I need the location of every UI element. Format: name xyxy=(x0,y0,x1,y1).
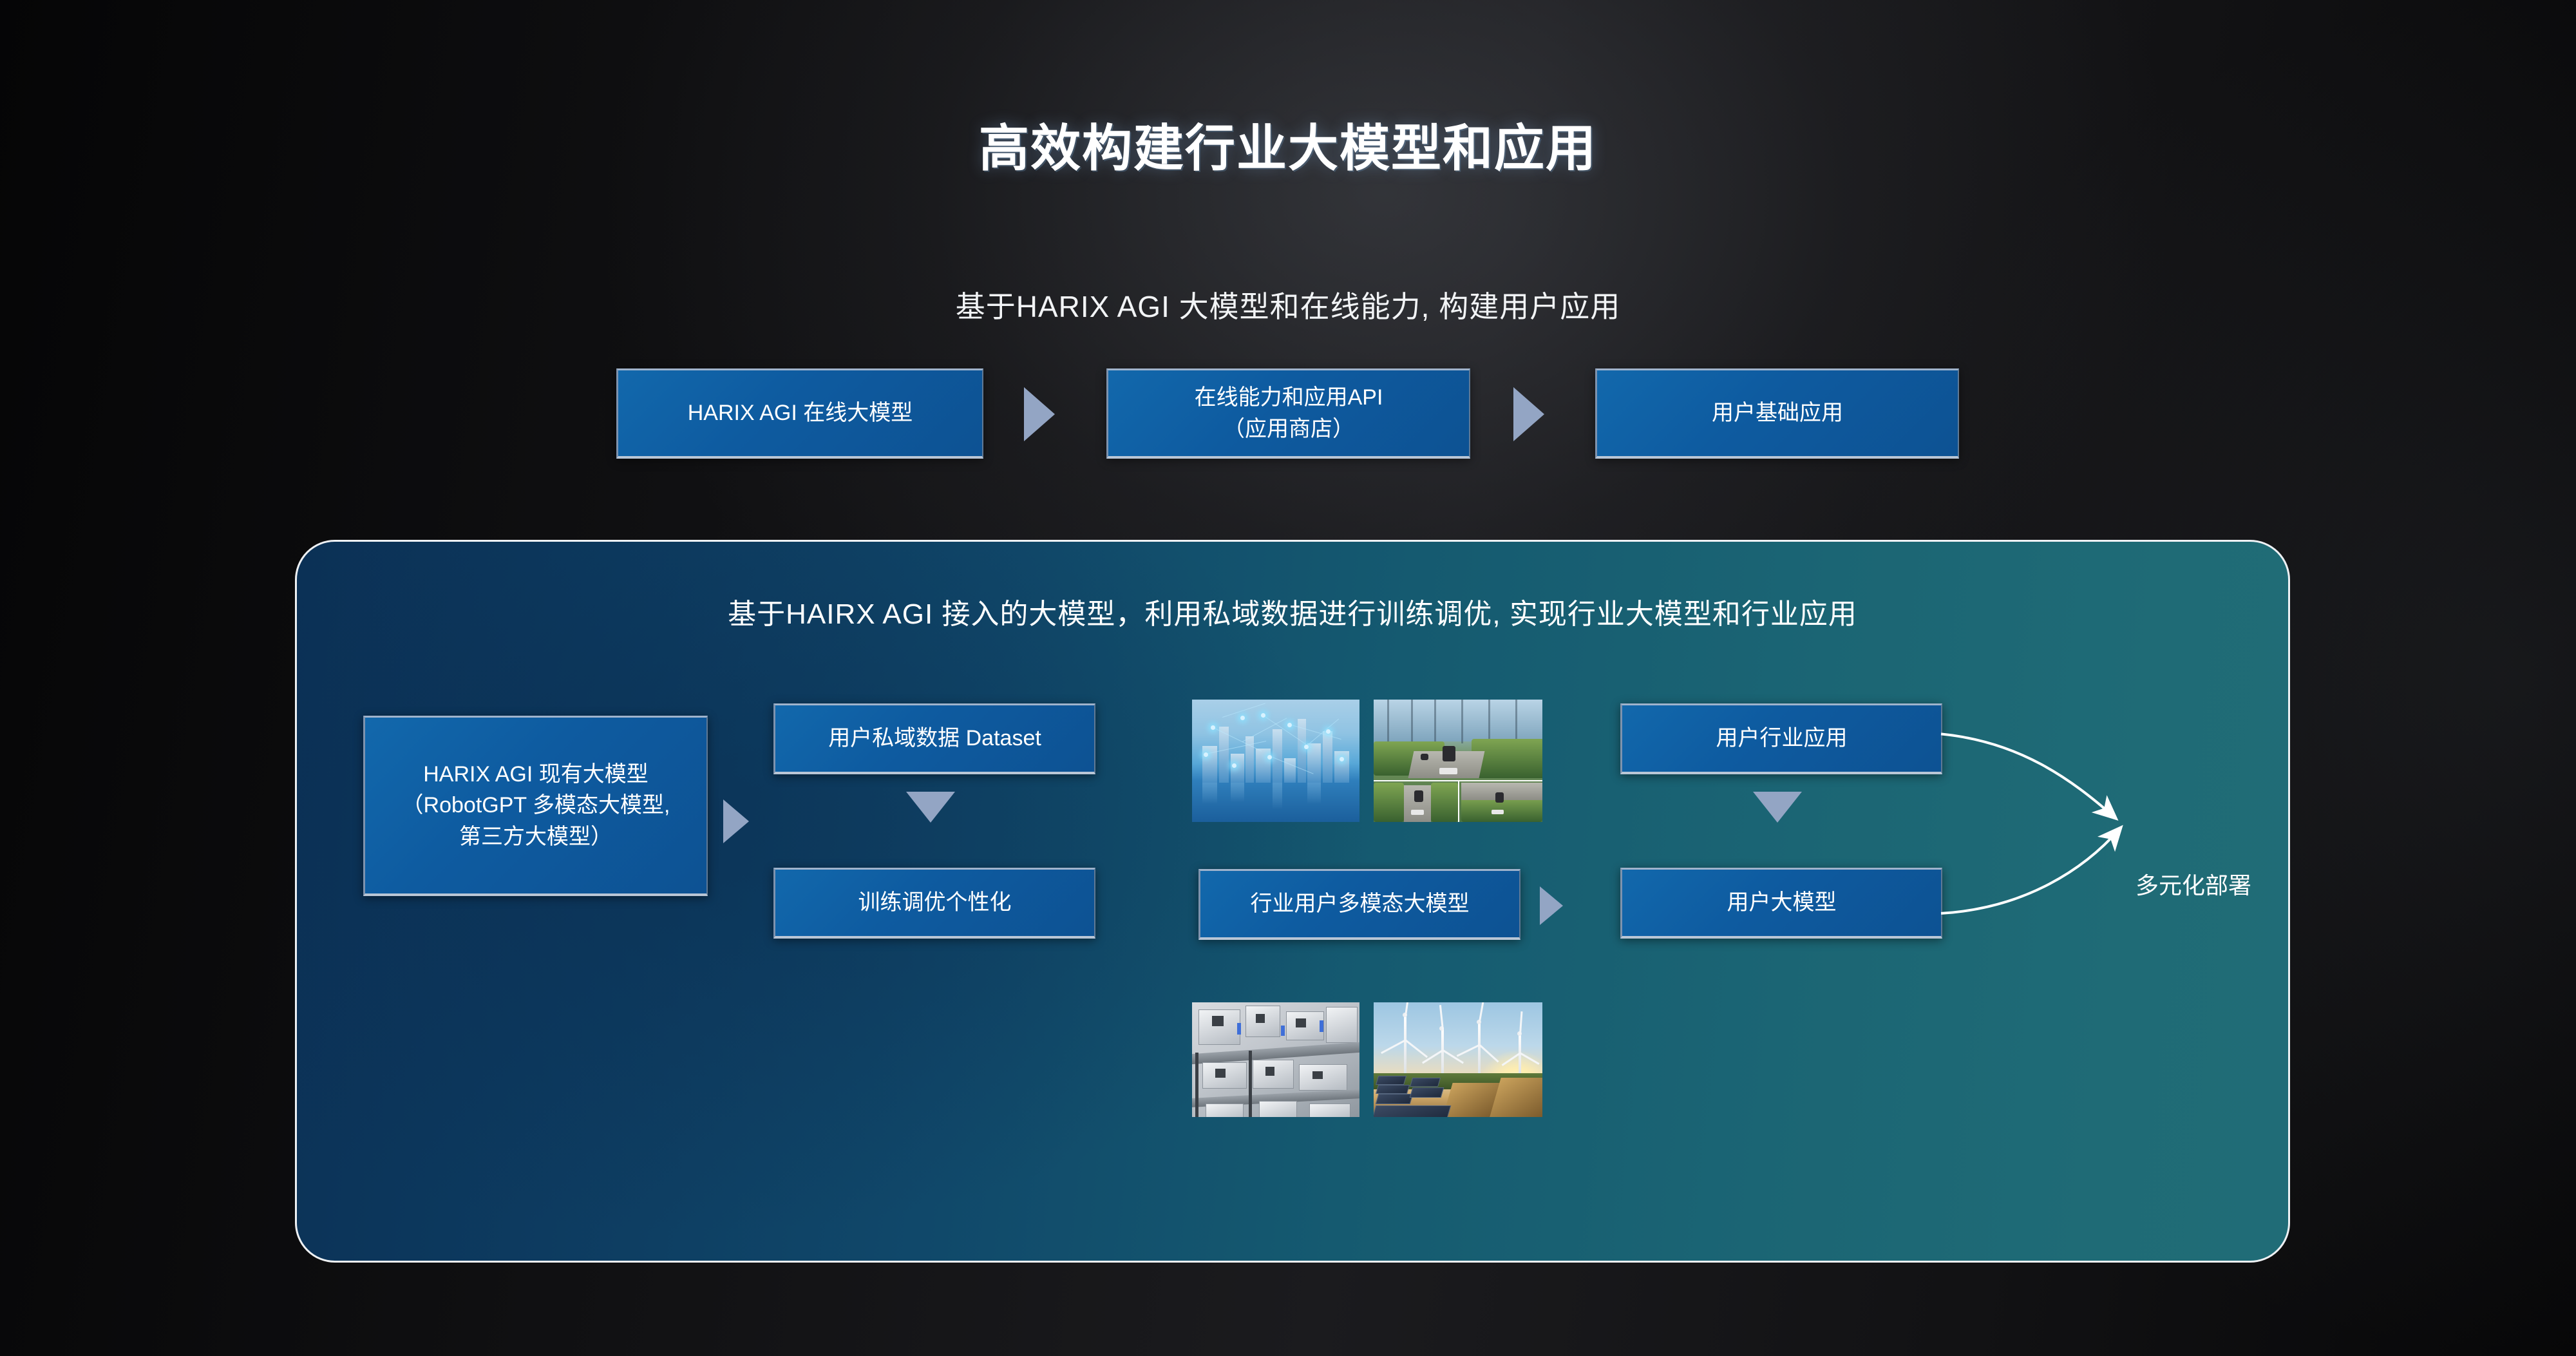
dataset-box-label: 用户私域数据 Dataset xyxy=(828,723,1041,754)
top-flow-box-label-line1: 在线能力和应用API xyxy=(1195,382,1383,413)
user-large-model-box[interactable]: 用户大模型 xyxy=(1620,868,1942,939)
industry-user-model-label: 行业用户多模态大模型 xyxy=(1251,888,1470,919)
smart-industry-factory-machinery-image xyxy=(1192,1002,1359,1117)
triangle-down-icon xyxy=(906,792,955,823)
user-large-model-label: 用户大模型 xyxy=(1727,887,1837,918)
smart-tourism-city-network-image xyxy=(1192,700,1359,822)
source-model-line3: 第三方大模型） xyxy=(459,821,612,852)
source-model-box[interactable]: HARIX AGI 现有大模型 （RobotGPT 多模态大模型, 第三方大模型… xyxy=(363,716,708,896)
top-flow-box-label: 用户基础应用 xyxy=(1712,397,1843,428)
smart-energy-wind-solar-image xyxy=(1374,1002,1542,1117)
triangle-right-icon xyxy=(1024,387,1055,441)
dataset-box[interactable]: 用户私域数据 Dataset xyxy=(773,703,1095,774)
page-title: 高效构建行业大模型和应用 xyxy=(0,108,2576,180)
training-box[interactable]: 训练调优个性化 xyxy=(773,868,1095,939)
slide-canvas: 高效构建行业大模型和应用 基于HARIX AGI 大模型和在线能力, 构建用户应… xyxy=(0,0,2576,1356)
top-flow-box-online-api[interactable]: 在线能力和应用API （应用商店） xyxy=(1106,368,1470,459)
thumbnail-smart-agriculture[interactable]: 智慧农业 xyxy=(1374,700,1542,822)
user-industry-app-label: 用户行业应用 xyxy=(1716,723,1848,754)
top-flow-box-label: HARIX AGI 在线大模型 xyxy=(688,397,913,428)
training-box-label: 训练调优个性化 xyxy=(858,887,1012,918)
deploy-label: 多元化部署 xyxy=(2136,867,2251,901)
top-flow-box-user-base-app[interactable]: 用户基础应用 xyxy=(1595,368,1959,459)
smart-agriculture-greenhouse-robot-image xyxy=(1374,700,1542,822)
source-model-line1: HARIX AGI 现有大模型 xyxy=(423,759,649,790)
top-flow-box-harix-online-model[interactable]: HARIX AGI 在线大模型 xyxy=(616,368,983,459)
arrow-app-to-deploy xyxy=(1941,734,2114,817)
industry-user-model-box[interactable]: 行业用户多模态大模型 xyxy=(1198,869,1520,940)
triangle-right-icon xyxy=(1540,886,1563,925)
industry-model-panel: 基于HAIRX AGI 接入的大模型，利用私域数据进行训练调优, 实现行业大模型… xyxy=(295,540,2290,1263)
thumbnail-smart-energy[interactable]: 智慧能源 xyxy=(1374,1002,1542,1117)
arrow-model-to-deploy xyxy=(1941,829,2119,913)
source-model-line2: （RobotGPT 多模态大模型, xyxy=(402,790,670,821)
triangle-down-icon xyxy=(1753,792,1802,823)
thumbnail-smart-industry[interactable]: 智慧工业 xyxy=(1192,1002,1359,1117)
top-flow-box-label-line2: （应用商店） xyxy=(1223,414,1354,444)
triangle-right-icon xyxy=(723,799,749,843)
thumbnail-smart-tourism[interactable]: 智慧文旅 xyxy=(1192,700,1359,822)
triangle-right-icon xyxy=(1513,387,1544,441)
user-industry-app-box[interactable]: 用户行业应用 xyxy=(1620,703,1942,774)
panel-header: 基于HAIRX AGI 接入的大模型，利用私域数据进行训练调优, 实现行业大模型… xyxy=(297,591,2288,632)
subtitle: 基于HARIX AGI 大模型和在线能力, 构建用户应用 xyxy=(0,283,2576,326)
